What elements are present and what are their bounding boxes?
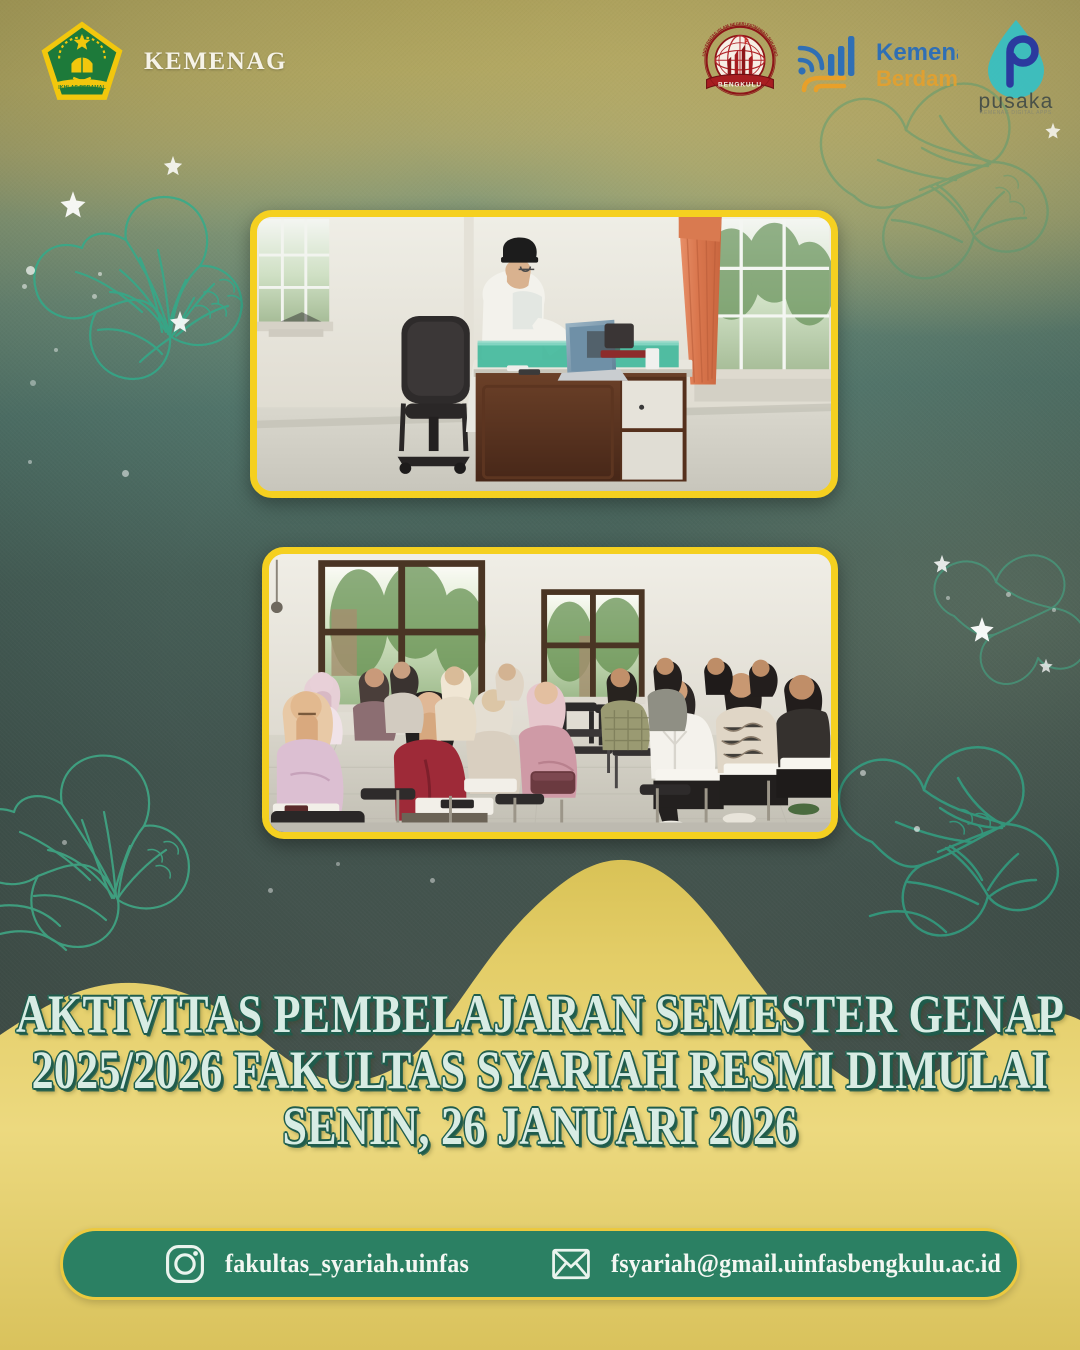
- kemenag-wordmark: KEMENAG: [144, 48, 287, 76]
- title-line-3: SENIN, 26 JANUARI 2026: [0, 1100, 1080, 1154]
- partner-logo-row: BENGKULU UNIVERSITAS ISLAM NEGERI FATMAW…: [696, 14, 1068, 114]
- kemenag-brand-block: IKHLAS BERAMAL KEMENAG: [38, 18, 287, 106]
- uin-bengkulu-logo-icon: BENGKULU UNIVERSITAS ISLAM NEGERI FATMAW…: [696, 18, 784, 110]
- svg-text:IKHLAS BERAMAL: IKHLAS BERAMAL: [58, 85, 106, 91]
- poster-root: IKHLAS BERAMAL KEMENAG: [0, 0, 1080, 1350]
- instagram-icon[interactable]: [163, 1242, 207, 1286]
- poster-title: AKTIVITAS PEMBELAJARAN SEMESTER GENAP 20…: [0, 988, 1080, 1156]
- title-line-1: AKTIVITAS PEMBELAJARAN SEMESTER GENAP: [0, 988, 1080, 1042]
- kemenag-pentagon-logo-icon: IKHLAS BERAMAL: [38, 18, 126, 106]
- pusaka-logo-icon: pusaka KEMENAG DIGITAL APPS: [964, 14, 1068, 114]
- instagram-handle: fakultas_syariah.uinfas: [225, 1249, 469, 1279]
- email-contact[interactable]: fsyariah@gmail.uinfasbengkulu.ac.id: [549, 1242, 1001, 1286]
- svg-text:Kemenag: Kemenag: [876, 39, 958, 66]
- kemenag-berdampak-logo-icon: Kemenag Berdampak: [790, 24, 958, 104]
- contact-bar: fakultas_syariah.uinfas fsyariah@gmail.u…: [60, 1228, 1020, 1300]
- photo-lecturer-at-desk[interactable]: [250, 210, 838, 498]
- envelope-icon[interactable]: [549, 1242, 593, 1286]
- svg-text:Berdampak: Berdampak: [876, 66, 958, 91]
- photo-classroom-students[interactable]: [262, 547, 838, 839]
- svg-text:KEMENAG DIGITAL APPS: KEMENAG DIGITAL APPS: [980, 110, 1052, 114]
- poster-header: IKHLAS BERAMAL KEMENAG: [0, 0, 1080, 130]
- instagram-contact[interactable]: fakultas_syariah.uinfas: [163, 1242, 469, 1286]
- svg-text:BENGKULU: BENGKULU: [718, 82, 762, 89]
- title-line-2: 2025/2026 FAKULTAS SYARIAH RESMI DIMULAI: [0, 1044, 1080, 1098]
- email-address: fsyariah@gmail.uinfasbengkulu.ac.id: [611, 1249, 1001, 1279]
